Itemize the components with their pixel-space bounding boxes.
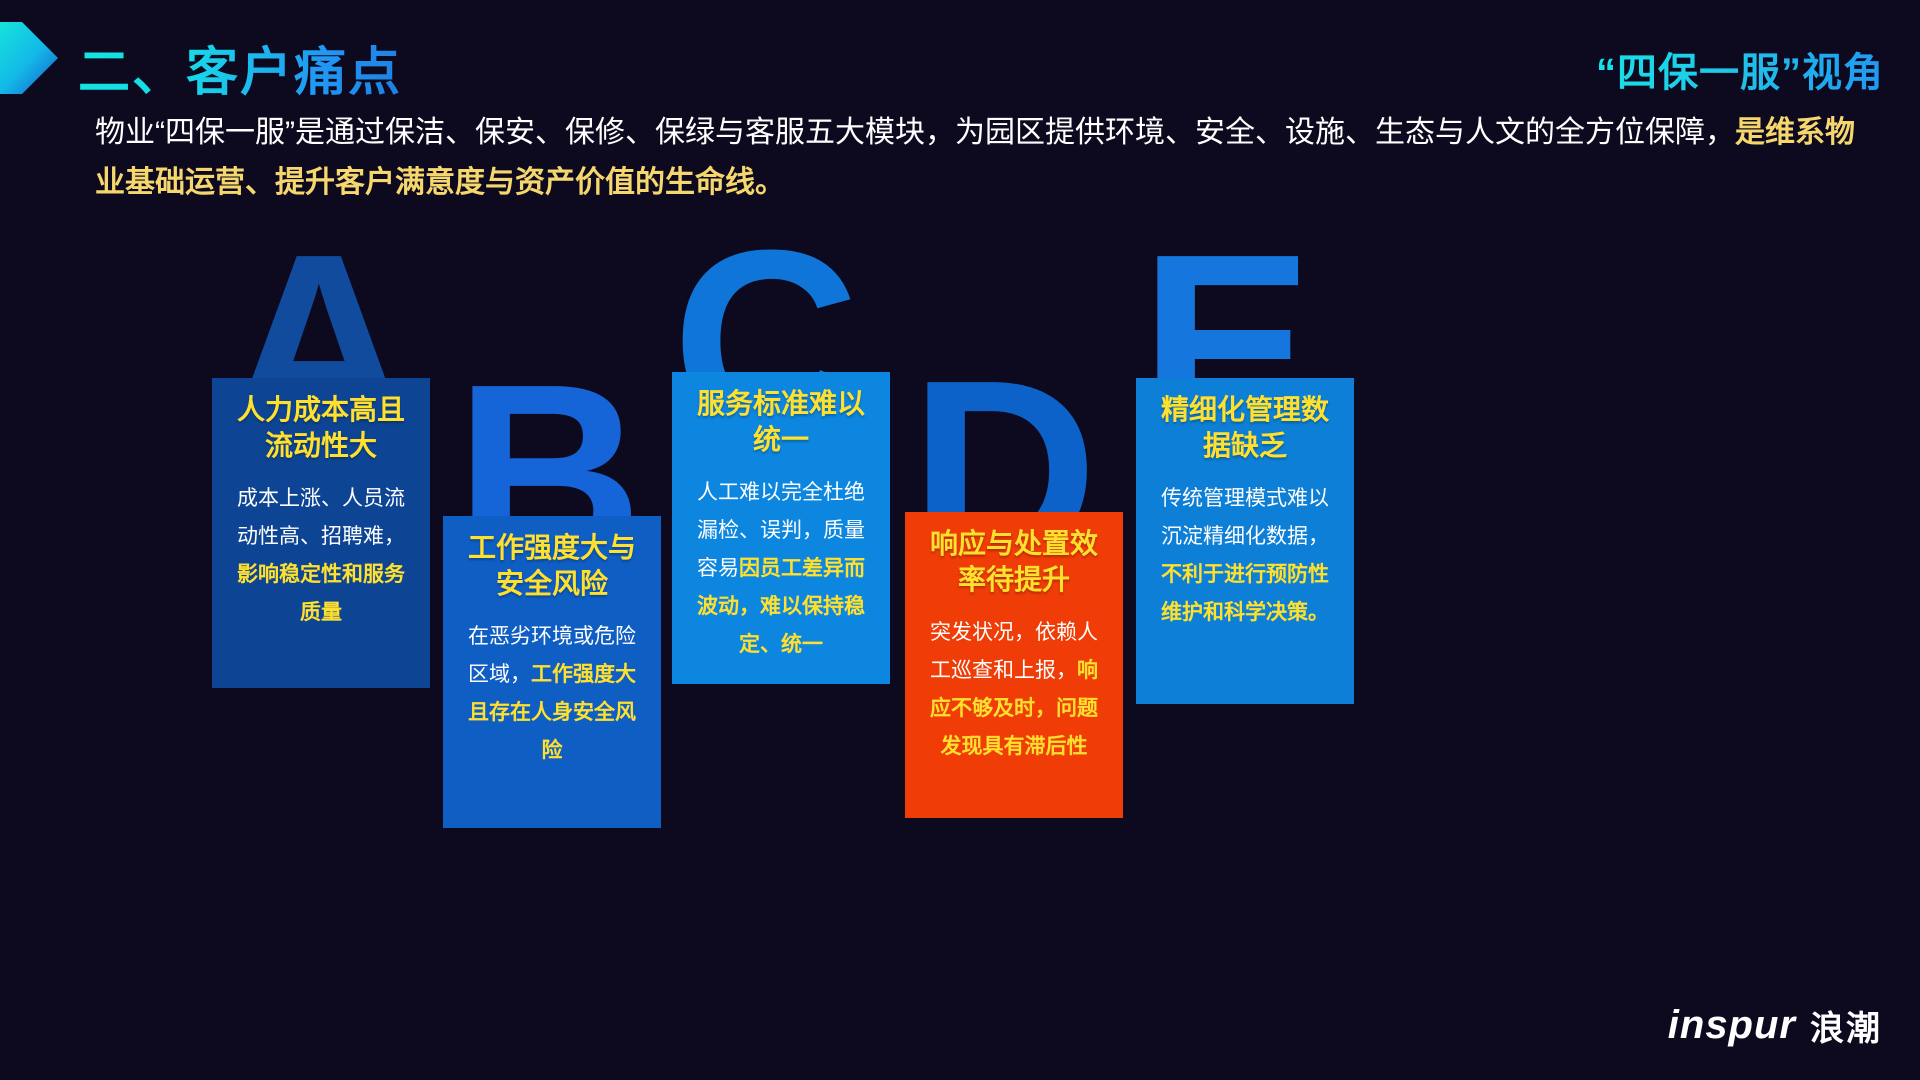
card-c-body: 人工难以完全杜绝漏检、误判，质量容易因员工差异而波动，难以保持稳定、统一 bbox=[688, 474, 874, 664]
card-e-body-plain: 传统管理模式难以沉淀精细化数据， bbox=[1161, 487, 1329, 548]
card-d-body: 突发状况，依赖人工巡查和上报，响应不够及时，问题发现具有滞后性 bbox=[921, 614, 1107, 766]
pain-point-card-c[interactable]: 服务标准难以统一 人工难以完全杜绝漏检、误判，质量容易因员工差异而波动，难以保持… bbox=[672, 372, 890, 684]
card-a-body-plain: 成本上涨、人员流动性高、招聘难， bbox=[237, 487, 405, 548]
card-d-title: 响应与处置效率待提升 bbox=[921, 526, 1107, 598]
chevron-right-icon bbox=[0, 22, 58, 94]
card-c-title: 服务标准难以统一 bbox=[688, 386, 874, 458]
intro-paragraph: 物业“四保一服”是通过保洁、保安、保修、保绿与客服五大模块，为园区提供环境、安全… bbox=[95, 108, 1855, 208]
card-d-body-plain: 突发状况，依赖人工巡查和上报， bbox=[930, 621, 1098, 682]
pain-point-card-b[interactable]: 工作强度大与安全风险 在恶劣环境或危险区域，工作强度大且存在人身安全风险 bbox=[443, 516, 661, 828]
page-title: 二、客户痛点 bbox=[78, 30, 402, 105]
intro-text-plain: 物业“四保一服”是通过保洁、保安、保修、保绿与客服五大模块，为园区提供环境、安全… bbox=[95, 116, 1735, 149]
inspur-logo: inspur 浪潮 bbox=[1668, 1001, 1882, 1050]
inspur-chinese-name: 浪潮 bbox=[1810, 1001, 1882, 1050]
card-a-title: 人力成本高且流动性大 bbox=[228, 392, 414, 464]
card-a-body: 成本上涨、人员流动性高、招聘难，影响稳定性和服务质量 bbox=[228, 480, 414, 632]
card-e-title: 精细化管理数据缺乏 bbox=[1152, 392, 1338, 464]
header-subtitle: “四保一服”视角 bbox=[1596, 40, 1884, 98]
pain-point-card-a[interactable]: 人力成本高且流动性大 成本上涨、人员流动性高、招聘难，影响稳定性和服务质量 bbox=[212, 378, 430, 688]
card-b-body: 在恶劣环境或危险区域，工作强度大且存在人身安全风险 bbox=[459, 618, 645, 770]
card-a-body-highlight: 影响稳定性和服务质量 bbox=[237, 563, 405, 624]
pain-point-card-d[interactable]: 响应与处置效率待提升 突发状况，依赖人工巡查和上报，响应不够及时，问题发现具有滞… bbox=[905, 512, 1123, 818]
card-e-body-highlight: 不利于进行预防性维护和科学决策。 bbox=[1161, 563, 1329, 624]
pain-point-card-e[interactable]: 精细化管理数据缺乏 传统管理模式难以沉淀精细化数据，不利于进行预防性维护和科学决… bbox=[1136, 378, 1354, 704]
slide-canvas: 二、客户痛点 “四保一服”视角 物业“四保一服”是通过保洁、保安、保修、保绿与客… bbox=[0, 0, 1920, 1080]
card-e-body: 传统管理模式难以沉淀精细化数据，不利于进行预防性维护和科学决策。 bbox=[1152, 480, 1338, 632]
inspur-wordmark: inspur bbox=[1668, 1003, 1796, 1048]
card-b-title: 工作强度大与安全风险 bbox=[459, 530, 645, 602]
